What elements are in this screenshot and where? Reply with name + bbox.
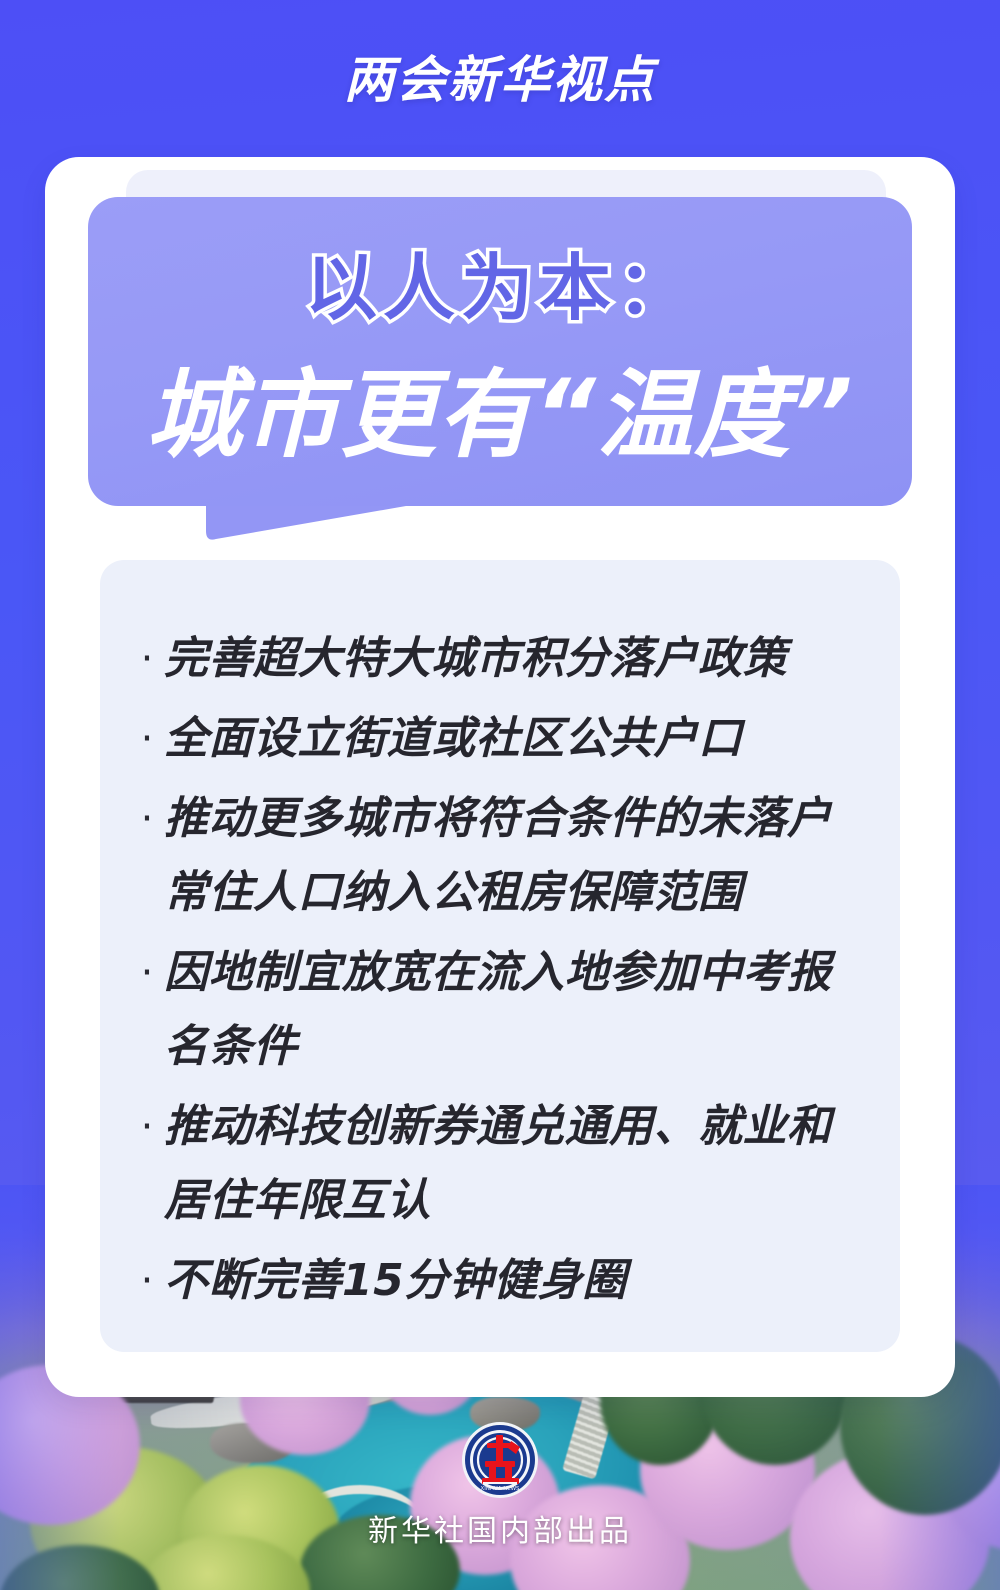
xinhua-agency-logo-icon: XINHUA NEWS (461, 1421, 539, 1499)
bullet-dot-icon: · (130, 1244, 164, 1318)
page-title: 两会新华视点 (0, 40, 1000, 112)
list-item-label: 全面设立街道或社区公共户口 (164, 702, 866, 776)
bullet-dot-icon: · (130, 1090, 164, 1164)
list-item: · 不断完善15分钟健身圈 (130, 1244, 866, 1318)
bullet-dot-icon: · (130, 702, 164, 776)
bullet-list-panel: · 完善超大特大城市积分落户政策 · 全面设立街道或社区公共户口 · 推动更多城… (100, 560, 900, 1352)
list-item: · 推动更多城市将符合条件的未落户常住人口纳入公租房保障范围 (130, 782, 866, 930)
svg-text:XINHUA NEWS: XINHUA NEWS (481, 1486, 520, 1492)
title-line-1: 以人为本： (88, 229, 912, 334)
list-item-label: 推动科技创新券通兑通用、就业和居住年限互认 (164, 1090, 866, 1238)
title-speech-bubble: 以人为本： 城市更有“温度” (88, 197, 912, 506)
title-line-2: 城市更有“温度” (88, 337, 912, 476)
list-item-label: 完善超大特大城市积分落户政策 (164, 622, 866, 696)
list-item: · 推动科技创新券通兑通用、就业和居住年限互认 (130, 1090, 866, 1238)
list-item-label: 因地制宜放宽在流入地参加中考报名条件 (164, 936, 866, 1084)
list-item: · 因地制宜放宽在流入地参加中考报名条件 (130, 936, 866, 1084)
bullet-dot-icon: · (130, 782, 164, 856)
footer-caption: 新华社国内部出品 (0, 1506, 1000, 1550)
list-item: · 全面设立街道或社区公共户口 (130, 702, 866, 776)
bullet-dot-icon: · (130, 936, 164, 1010)
list-item-label: 不断完善15分钟健身圈 (164, 1244, 866, 1318)
bullet-dot-icon: · (130, 622, 164, 696)
list-item-label: 推动更多城市将符合条件的未落户常住人口纳入公租房保障范围 (164, 782, 866, 930)
list-item: · 完善超大特大城市积分落户政策 (130, 622, 866, 696)
